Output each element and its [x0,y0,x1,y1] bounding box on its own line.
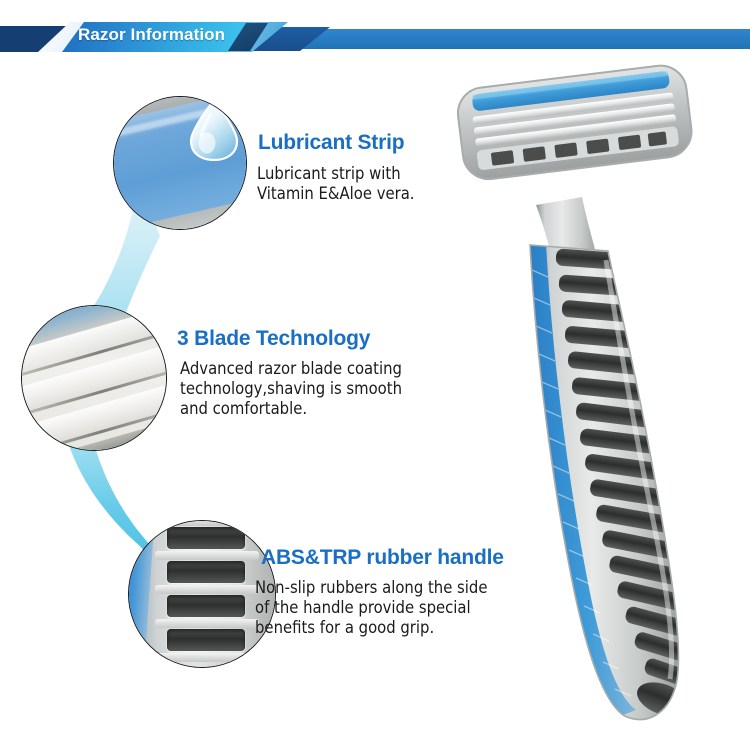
handle-rib [155,619,259,628]
razor-blades-closeup-photo [21,305,167,451]
handle-rib [155,551,259,560]
feature-body-three-blade-technology: Advanced razor blade coating technology,… [180,359,402,419]
razor-head [455,63,694,182]
lubricant-strip-closeup-photo [113,96,247,230]
feature-body-lubricant-strip: Lubricant strip with Vitamin E&Aloe vera… [257,164,415,204]
handle-rib [155,585,259,594]
handle-rib [155,520,259,526]
header-banner: Razor Information [0,22,750,52]
handle-slot [167,595,245,617]
disposable-razor-photo [440,55,740,725]
infographic-page: Razor Information [0,0,750,750]
handle-slot [167,561,245,583]
handle-slot [167,629,245,651]
feature-title-lubricant-strip: Lubricant Strip [258,131,404,155]
handle-rib [155,653,259,662]
page-title: Razor Information [78,25,225,45]
water-droplet-icon [188,99,240,161]
rubber-handle-ribs-closeup-photo [128,520,276,668]
feature-title-three-blade-technology: 3 Blade Technology [177,327,370,351]
handle-slot [167,527,245,549]
